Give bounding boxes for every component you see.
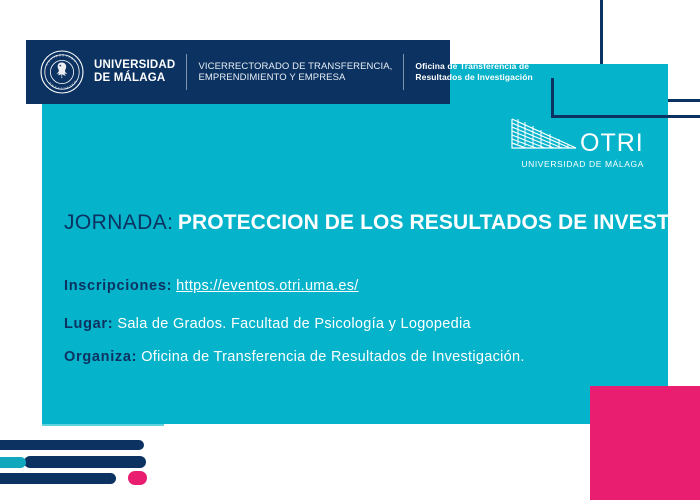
inscripciones-link[interactable]: https://eventos.otri.uma.es/ [176, 278, 359, 294]
decorative-pink-dot [128, 471, 147, 485]
info-row-lugar: Lugar: Sala de Grados. Facultad de Psico… [64, 316, 471, 332]
vicerrectorado-label: VICERRECTORADO DE TRANSFERENCIA, EMPREND… [198, 61, 392, 84]
university-wordmark-line1: UNIVERSIDAD [94, 59, 175, 72]
title-headline: PROTECCION DE LOS RESULTADOS DE INVESTIG… [178, 211, 700, 234]
info-row-organiza: Organiza: Oficina de Transferencia de Re… [64, 349, 525, 365]
lugar-value: Sala de Grados. Facultad de Psicología y… [117, 316, 471, 332]
otri-fan-wing-icon [510, 118, 578, 157]
oficina-label: Oficina de Transferencia de Resultados d… [415, 61, 532, 83]
decorative-bar-1 [0, 440, 144, 450]
organiza-label: Organiza: [64, 349, 137, 365]
institutional-logo-bar: U N I V E R S I T A S M A L A C I [26, 40, 450, 104]
otri-subtitle: UNIVERSIDAD DE MÁLAGA [510, 159, 646, 169]
otri-logo: OTRI UNIVERSIDAD DE MÁLAGA [510, 118, 646, 168]
title-kicker: JORNADA: [64, 211, 173, 234]
vicerrectorado-line1: VICERRECTORADO DE TRANSFERENCIA, [198, 61, 392, 73]
oficina-line2: Resultados de Investigación [415, 72, 532, 83]
oficina-line1: Oficina de Transferencia de [415, 61, 532, 72]
lugar-label: Lugar: [64, 316, 113, 332]
vicerrectorado-line2: EMPRENDIMIENTO Y EMPRESA [198, 72, 392, 84]
uma-shield-crest-icon: U N I V E R S I T A S M A L A C I [40, 50, 84, 94]
corner-bracket-inner-vertical [551, 78, 554, 118]
decorative-bar-2 [24, 456, 146, 468]
organiza-value: Oficina de Transferencia de Resultados d… [141, 349, 525, 365]
inscripciones-label: Inscripciones: [64, 278, 172, 294]
decorative-cyan-pill [0, 457, 26, 468]
poster-canvas: U N I V E R S I T A S M A L A C I [0, 0, 700, 500]
page-title: JORNADA: PROTECCION DE LOS RESULTADOS DE… [64, 211, 700, 235]
decorative-bar-3 [0, 473, 116, 484]
pink-accent-square [590, 386, 700, 500]
logo-bar-divider-2 [403, 54, 404, 90]
info-row-inscripciones: Inscripciones: https://eventos.otri.uma.… [64, 278, 359, 294]
otri-wordmark: OTRI [580, 131, 644, 157]
university-wordmark: UNIVERSIDAD DE MÁLAGA [94, 59, 175, 85]
svg-text:S: S [62, 53, 64, 57]
university-wordmark-line2: DE MÁLAGA [94, 72, 175, 85]
logo-bar-divider-1 [186, 54, 187, 90]
panel-bottom-accent-line [42, 424, 164, 426]
